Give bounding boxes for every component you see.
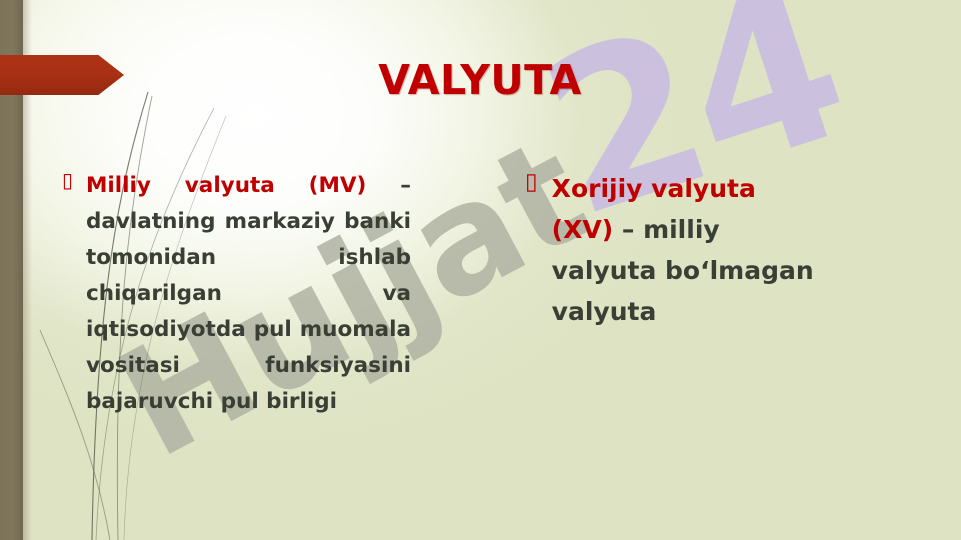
bullet-text-left-rest: – davlatning markaziy banki tomonidan is… bbox=[86, 173, 411, 414]
bullet-text-left: Milliy valyuta (MV) – davlatning markazi… bbox=[86, 168, 411, 420]
bullet-marker-icon: ▯ bbox=[525, 171, 538, 194]
bullet-text-left-highlight: Milliy valyuta (MV) bbox=[86, 173, 366, 198]
bullet-marker-icon: ▯ bbox=[62, 170, 73, 190]
bullet-item-left: ▯ Milliy valyuta (MV) – davlatning marka… bbox=[62, 168, 434, 420]
bullet-item-right: ▯ Xorijiy valyuta (XV) – milliy valyuta … bbox=[525, 168, 825, 332]
slide-canvas: 24 Hujjat VALYUTA ▯ Milliy valyuta (MV) … bbox=[0, 0, 961, 540]
arrow-banner-icon bbox=[0, 55, 124, 95]
bullet-text-right: Xorijiy valyuta (XV) – milliy valyuta bo… bbox=[552, 168, 814, 332]
slide-title: VALYUTA bbox=[140, 56, 820, 104]
